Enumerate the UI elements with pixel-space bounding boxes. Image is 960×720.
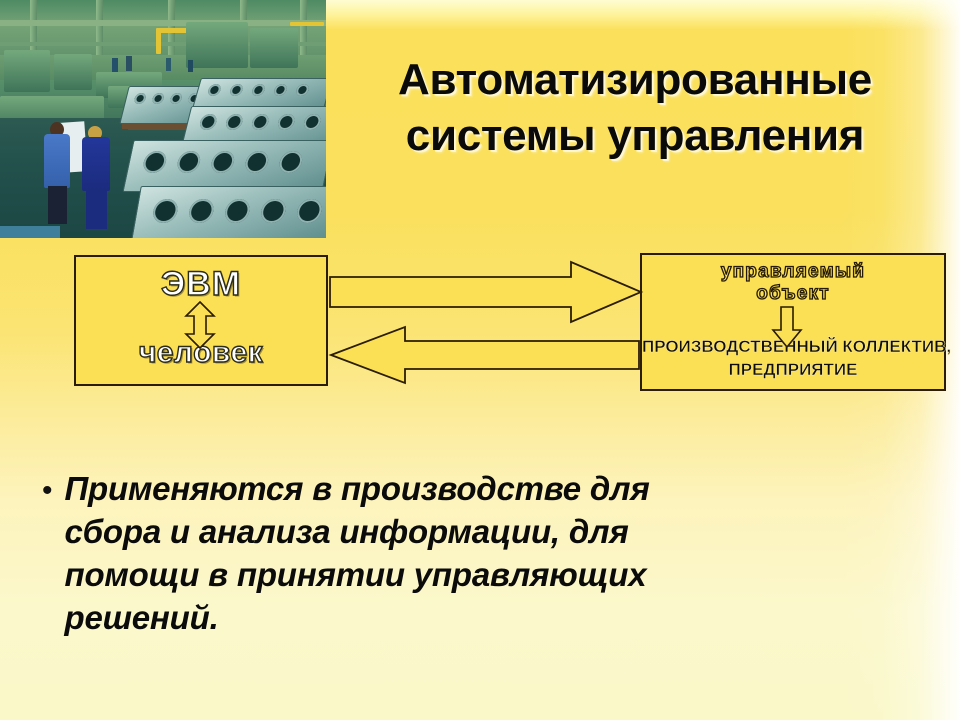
- bullet-line-2: сбора и анализа информации, для: [65, 511, 650, 554]
- bullet-text: Применяются в производстве для сбора и а…: [65, 468, 650, 640]
- slide-canvas: Автоматизированные системы управления ЭВ…: [0, 0, 960, 720]
- bullet-line-4: решений.: [65, 597, 650, 640]
- label-managed-object-line2: объект: [642, 283, 944, 305]
- diagram-box-managed-object: управляемый объект ПРОИЗВОДСТВЕННЫЙ КОЛЛ…: [640, 253, 946, 391]
- factory-photo: [0, 0, 326, 238]
- label-chelovek: человек: [76, 336, 326, 370]
- label-evm: ЭВМ: [76, 265, 326, 304]
- label-collective-line2: ПРЕДПРИЯТИЕ: [642, 360, 944, 380]
- bullet-line-1: Применяются в производстве для: [65, 468, 650, 511]
- arrow-from-object: [331, 327, 639, 383]
- title-line-2: системы управления: [330, 108, 940, 164]
- bullet-line-3: помощи в принятии управляющих: [65, 554, 650, 597]
- diagram-box-computer-human: ЭВМ человек: [74, 255, 328, 386]
- label-collective-line1: ПРОИЗВОДСТВЕННЫЙ КОЛЛЕКТИВ,: [642, 337, 944, 357]
- label-managed-object-line1: управляемый: [642, 261, 944, 283]
- bullet-marker: •: [42, 476, 53, 506]
- title-line-1: Автоматизированные: [330, 52, 940, 108]
- page-title: Автоматизированные системы управления: [330, 52, 940, 165]
- bullet-block: • Применяются в производстве для сбора и…: [42, 468, 742, 640]
- arrow-to-object: [330, 262, 641, 322]
